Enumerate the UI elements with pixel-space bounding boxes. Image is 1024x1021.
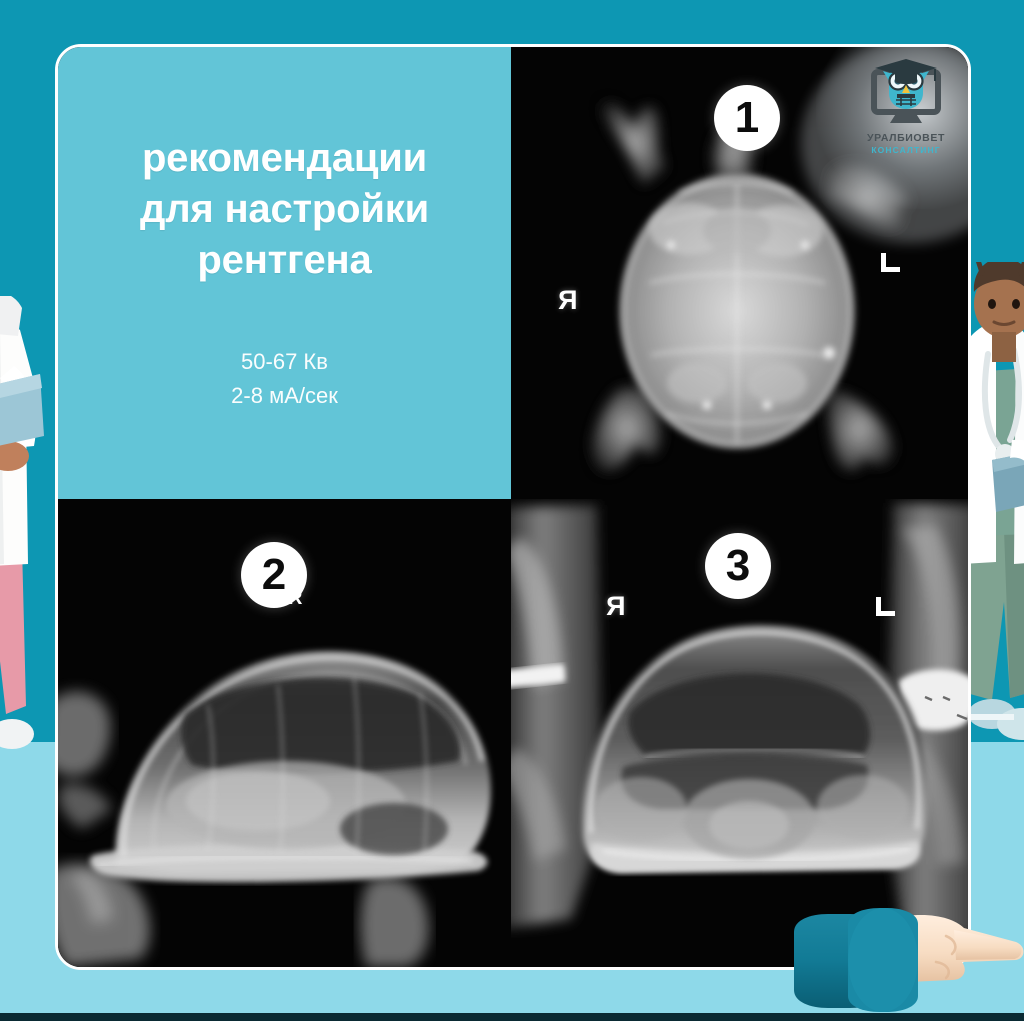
page-title: рекомендации для настройки рентгена [140, 133, 429, 287]
radiograph-right-marker-1: R [558, 285, 578, 316]
panel-number-badge-1: 1 [714, 85, 780, 151]
xray-panel-1: 1 R [511, 47, 968, 499]
headline-line-3: рентгена [140, 235, 429, 286]
param-mas: 2-8 мА/сек [231, 379, 338, 413]
background-bottom-strip [0, 1013, 1024, 1021]
pointing-hand-figure [786, 902, 1024, 1014]
logo-name-secondary: КОНСАЛТИНГ [871, 146, 940, 155]
infographic-card: рекомендации для настройки рентгена 50-6… [55, 44, 971, 970]
radiograph-corner-marker-1 [881, 253, 900, 272]
logo-name-primary: УРАЛБИОВЕТ [867, 133, 945, 144]
doctor-left-figure [0, 296, 60, 772]
xray-panel-3: 3 R [511, 499, 968, 967]
xray-parameters: 50-67 Кв 2-8 мА/сек [231, 345, 338, 413]
xray-panel-2: 2 R [58, 499, 511, 967]
panel-number-badge-2: 2 [241, 542, 307, 608]
radiograph-right-marker-3: R [606, 591, 626, 622]
headline-line-2: для настройки [140, 184, 429, 235]
radiograph-corner-marker-3 [876, 597, 895, 616]
brand-logo: УРАЛБИОВЕТ КОНСАЛТИНГ [858, 59, 954, 163]
headline-line-1: рекомендации [140, 133, 429, 184]
param-kv: 50-67 Кв [231, 345, 338, 379]
panel-number-badge-3: 3 [705, 533, 771, 599]
owl-graduate-monitor-icon [867, 59, 945, 131]
poster-root: рекомендации для настройки рентгена 50-6… [0, 0, 1024, 1021]
headline-panel: рекомендации для настройки рентгена 50-6… [58, 47, 511, 499]
